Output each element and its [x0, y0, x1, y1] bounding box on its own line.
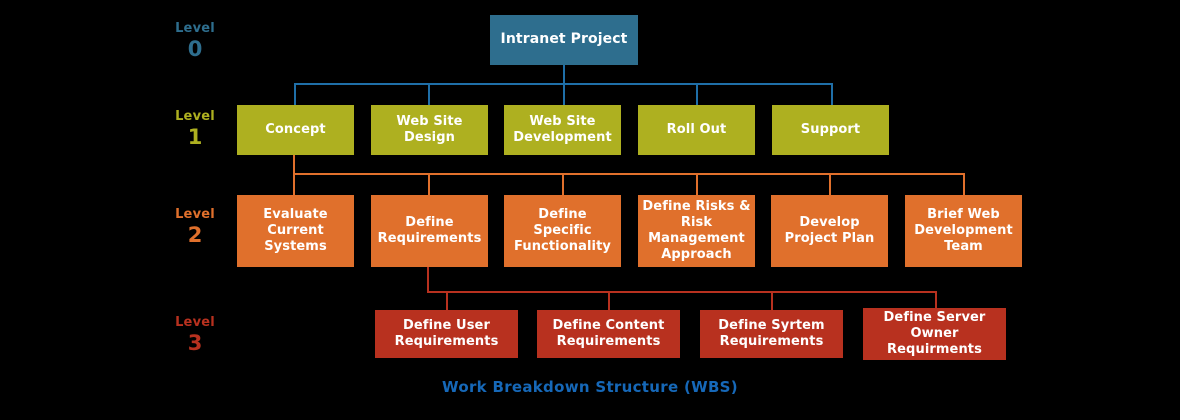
- node-web-site-design-label: Web Site Design: [375, 114, 484, 146]
- connector-drop-define-risks: [696, 173, 698, 195]
- node-define-user-requirements-label: Define User Requirements: [379, 318, 514, 350]
- connector-drop-support: [831, 83, 833, 105]
- node-define-server-owner-requirments-label: Define Server Owner Requirments: [867, 310, 1002, 358]
- node-web-site-development[interactable]: Web Site Development: [504, 105, 621, 155]
- level-label-1-number: 1: [160, 126, 230, 148]
- connector-drop-evaluate-current-systems: [293, 173, 295, 195]
- node-intranet-project-label: Intranet Project: [501, 31, 628, 48]
- connector-drop-web-site-development: [563, 83, 565, 105]
- node-define-risks-and-risk-management-approach-label: Define Risks & Risk Management Approach: [642, 199, 751, 262]
- node-web-site-design[interactable]: Web Site Design: [371, 105, 488, 155]
- connector-drop-web-site-design: [428, 83, 430, 105]
- level-label-3: Level 3: [160, 316, 230, 354]
- node-evaluate-current-systems-label: Evaluate Current Systems: [241, 207, 350, 255]
- connector-define-requirements-stem: [427, 267, 429, 293]
- node-define-server-owner-requirments[interactable]: Define Server Owner Requirments: [863, 308, 1006, 360]
- connector-level3-bus: [427, 291, 936, 293]
- node-define-specific-functionality[interactable]: Define Specific Functionality: [504, 195, 621, 267]
- connector-drop-define-specific-functionality: [562, 173, 564, 195]
- node-support[interactable]: Support: [772, 105, 889, 155]
- level-label-1-word: Level: [160, 110, 230, 124]
- node-roll-out[interactable]: Roll Out: [638, 105, 755, 155]
- level-label-0-word: Level: [160, 22, 230, 36]
- connector-drop-concept: [294, 83, 296, 105]
- node-concept[interactable]: Concept: [237, 105, 354, 155]
- node-roll-out-label: Roll Out: [667, 122, 727, 138]
- node-define-specific-functionality-label: Define Specific Functionality: [508, 207, 617, 255]
- wbs-diagram: Level 0 Level 1 Level 2 Level 3 Intran: [0, 0, 1180, 420]
- level-label-0-number: 0: [160, 38, 230, 60]
- node-define-risks-and-risk-management-approach[interactable]: Define Risks & Risk Management Approach: [638, 195, 755, 267]
- node-web-site-development-label: Web Site Development: [508, 114, 617, 146]
- node-intranet-project[interactable]: Intranet Project: [490, 15, 638, 65]
- connector-drop-develop-project-plan: [829, 173, 831, 195]
- node-define-content-requirements-label: Define Content Requirements: [541, 318, 676, 350]
- node-define-content-requirements[interactable]: Define Content Requirements: [537, 310, 680, 358]
- node-brief-web-development-team[interactable]: Brief Web Development Team: [905, 195, 1022, 267]
- connector-drop-define-content-requirements: [608, 291, 610, 310]
- connector-drop-define-syrtem-requirements: [771, 291, 773, 310]
- node-support-label: Support: [801, 122, 861, 138]
- connector-drop-brief-web-development-team: [963, 173, 965, 195]
- node-develop-project-plan-label: Develop Project Plan: [775, 215, 884, 247]
- connector-drop-define-requirements: [428, 173, 430, 195]
- node-concept-label: Concept: [265, 122, 325, 138]
- level-label-2-number: 2: [160, 224, 230, 246]
- node-define-user-requirements[interactable]: Define User Requirements: [375, 310, 518, 358]
- node-define-requirements[interactable]: Define Requirements: [371, 195, 488, 267]
- level-label-1: Level 1: [160, 110, 230, 148]
- node-brief-web-development-team-label: Brief Web Development Team: [909, 207, 1018, 255]
- connector-drop-define-user-requirements: [446, 291, 448, 310]
- connector-drop-roll-out: [696, 83, 698, 105]
- node-define-requirements-label: Define Requirements: [375, 215, 484, 247]
- level-label-0: Level 0: [160, 22, 230, 60]
- node-evaluate-current-systems[interactable]: Evaluate Current Systems: [237, 195, 354, 267]
- connector-root-stem: [563, 65, 565, 84]
- connector-level2-bus: [294, 173, 964, 175]
- level-label-3-word: Level: [160, 316, 230, 330]
- node-develop-project-plan[interactable]: Develop Project Plan: [771, 195, 888, 267]
- diagram-caption: Work Breakdown Structure (WBS): [0, 378, 1180, 396]
- level-label-3-number: 3: [160, 332, 230, 354]
- level-label-2: Level 2: [160, 208, 230, 246]
- level-label-2-word: Level: [160, 208, 230, 222]
- node-define-syrtem-requirements-label: Define Syrtem Requirements: [704, 318, 839, 350]
- node-define-syrtem-requirements[interactable]: Define Syrtem Requirements: [700, 310, 843, 358]
